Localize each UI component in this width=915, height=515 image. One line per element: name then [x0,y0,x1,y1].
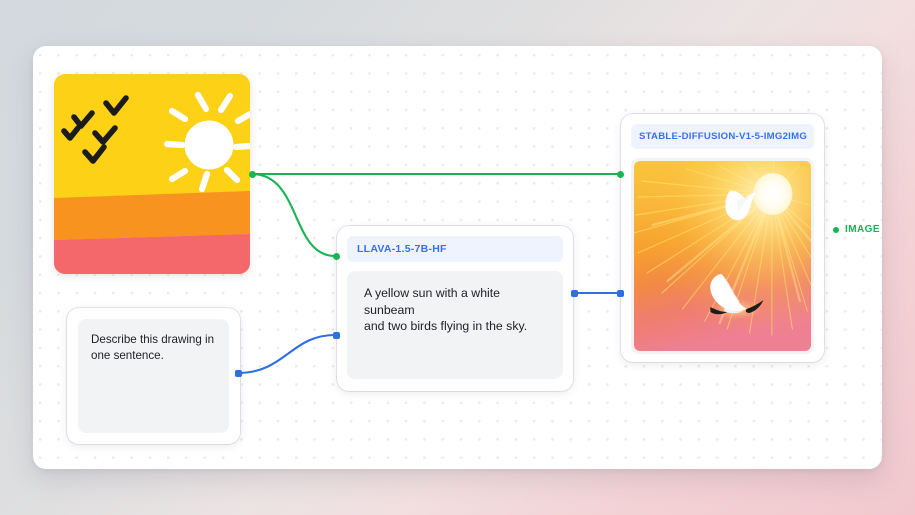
edge-drawing-to-llava [252,174,335,256]
llava-output-text: A yellow sun with a white sunbeam and tw… [347,271,563,349]
stable-diffusion-text-input-port[interactable] [617,290,624,297]
edge-prompt-to-llava [238,335,335,373]
canvas-node-layer[interactable]: Describe this drawing in one sentence. L… [33,46,882,469]
stable-diffusion-node[interactable]: STABLE-DIFFUSION-V1-5-IMG2IMG [621,114,824,362]
workflow-canvas-card[interactable]: Describe this drawing in one sentence. L… [33,46,882,469]
stable-diffusion-node-body [631,158,814,354]
generated-sun-icon [753,173,792,215]
llava-node[interactable]: LLAVA-1.5-7B-HF A yellow sun with a whit… [337,226,573,391]
source-drawing-image [54,74,250,274]
image-output-label-text: IMAGE [845,224,880,235]
source-drawing-output-port[interactable] [249,171,256,178]
prompt-output-port[interactable] [235,370,242,377]
llava-output-port[interactable] [571,290,578,297]
stable-diffusion-image-input-port[interactable] [617,171,624,178]
sun-disc-icon [185,121,234,170]
generated-image-container [634,161,811,351]
image-output-label[interactable]: IMAGE [833,224,880,235]
prompt-text: Describe this drawing in one sentence. [78,319,229,376]
prompt-node-body: Describe this drawing in one sentence. [78,319,229,433]
llava-text-input-port[interactable] [333,332,340,339]
generated-image [634,161,811,351]
llava-image-input-port[interactable] [333,253,340,260]
prompt-node[interactable]: Describe this drawing in one sentence. [67,308,240,444]
llava-node-body: A yellow sun with a white sunbeam and tw… [347,271,563,379]
stable-diffusion-node-title: STABLE-DIFFUSION-V1-5-IMG2IMG [631,124,814,149]
image-output-port[interactable] [833,227,839,233]
app-backdrop: Describe this drawing in one sentence. L… [0,0,915,515]
llava-node-title: LLAVA-1.5-7B-HF [347,236,563,262]
source-drawing-node[interactable] [54,74,250,274]
